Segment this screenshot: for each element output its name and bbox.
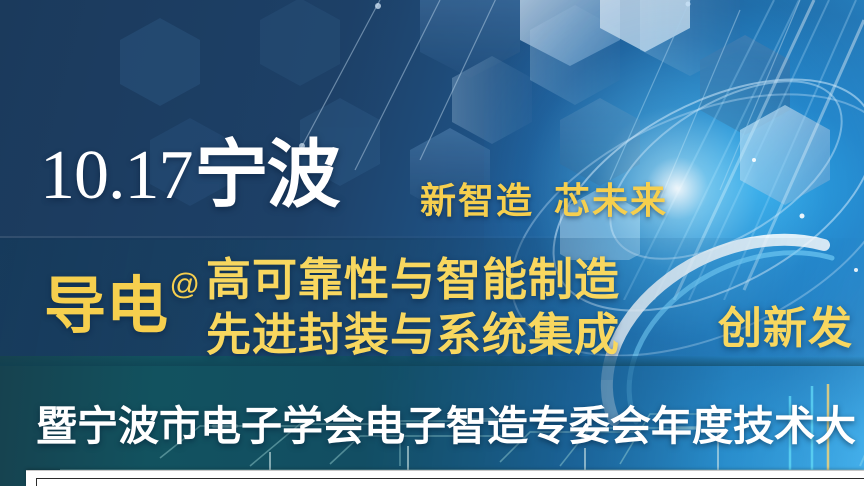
topic-tag: 导电 @: [44, 276, 198, 338]
conference-banner: 10.17 宁波 新智造芯未来 导电 @ 高可靠性与智能制造 先进封装与系统集成…: [0, 0, 864, 486]
topic-tag-text: 导电: [44, 272, 168, 341]
side-word: 创新发: [718, 292, 853, 356]
event-city: 宁波: [195, 141, 339, 211]
white-panel: [26, 470, 864, 486]
white-panel-border: [36, 478, 864, 486]
topic-lines: 高可靠性与智能制造 先进封装与系统集成: [206, 253, 620, 361]
topic-line-1: 高可靠性与智能制造: [206, 253, 620, 306]
event-slogan: 新智造芯未来: [420, 172, 668, 224]
at-symbol-icon: @: [170, 270, 200, 300]
date-location-row: 10.17 宁波: [40, 141, 339, 211]
slogan-part-2: 芯未来: [554, 180, 668, 221]
topic-block: 导电 @ 高可靠性与智能制造 先进封装与系统集成: [44, 253, 620, 361]
footer-line: 暨宁波市电子学会电子智造专委会年度技术大: [36, 392, 856, 452]
event-date: 10.17: [40, 141, 193, 211]
slogan-part-1: 新智造: [420, 180, 534, 221]
topic-line-2: 先进封装与系统集成: [206, 308, 620, 361]
